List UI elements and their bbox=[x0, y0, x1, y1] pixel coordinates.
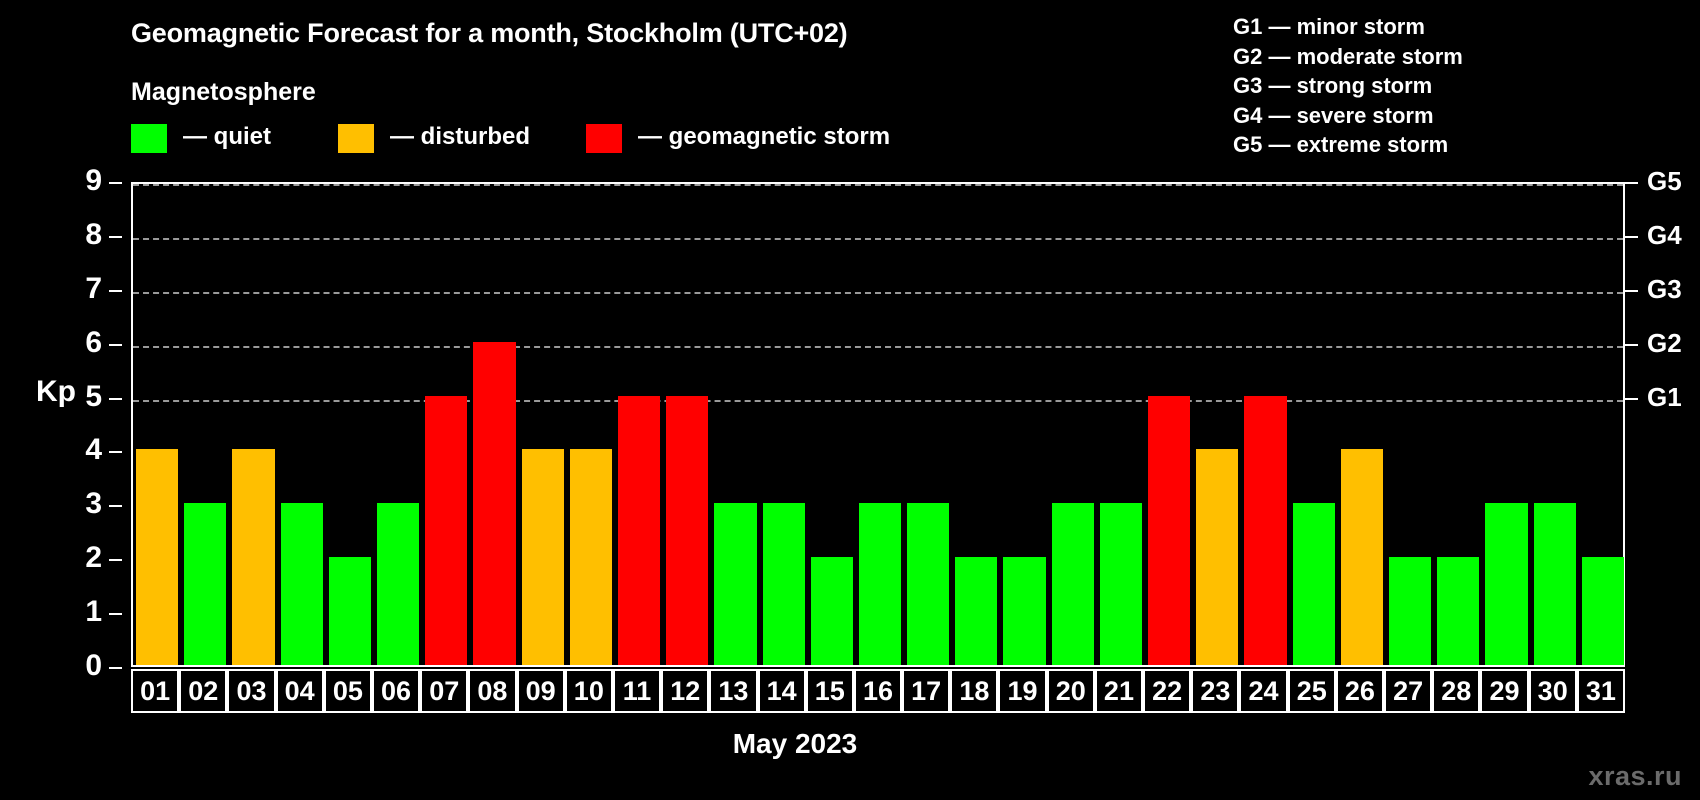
day-label-30[interactable]: 30 bbox=[1529, 669, 1577, 713]
g-tick-label-g4: G4 bbox=[1647, 222, 1682, 248]
y-axis-right-gscale: G1G2G3G4G5 bbox=[1625, 182, 1700, 667]
legend-entry-geomagnetic-storm: — geomagnetic storm bbox=[586, 122, 890, 154]
bar-day-19[interactable] bbox=[1003, 557, 1045, 665]
bar-day-15[interactable] bbox=[811, 557, 853, 665]
y-tick-label-9: 9 bbox=[58, 166, 102, 196]
y-tickmark-6 bbox=[109, 344, 122, 346]
day-label-28[interactable]: 28 bbox=[1432, 669, 1480, 713]
y-tickmark-7 bbox=[109, 290, 122, 292]
day-label-16[interactable]: 16 bbox=[854, 669, 902, 713]
day-label-18[interactable]: 18 bbox=[950, 669, 998, 713]
day-label-06[interactable]: 06 bbox=[372, 669, 420, 713]
y-tickmark-5 bbox=[109, 398, 122, 400]
gscale-row-g1: G1 — minor storm bbox=[1233, 12, 1463, 42]
day-label-24[interactable]: 24 bbox=[1239, 669, 1287, 713]
day-label-31[interactable]: 31 bbox=[1577, 669, 1625, 713]
day-label-27[interactable]: 27 bbox=[1384, 669, 1432, 713]
day-label-11[interactable]: 11 bbox=[613, 669, 661, 713]
day-label-22[interactable]: 22 bbox=[1143, 669, 1191, 713]
bar-day-16[interactable] bbox=[859, 503, 901, 665]
y-tickmark-8 bbox=[109, 236, 122, 238]
day-label-15[interactable]: 15 bbox=[806, 669, 854, 713]
legend-entry-quiet: — quiet bbox=[131, 122, 271, 154]
bar-day-26[interactable] bbox=[1341, 449, 1383, 665]
day-label-08[interactable]: 08 bbox=[468, 669, 516, 713]
y-tickmark-0 bbox=[109, 667, 122, 669]
gscale-row-g3: G3 — strong storm bbox=[1233, 71, 1463, 101]
g-tick-label-g5: G5 bbox=[1647, 168, 1682, 194]
bar-day-18[interactable] bbox=[955, 557, 997, 665]
bar-day-24[interactable] bbox=[1244, 396, 1286, 665]
y-tick-label-1: 1 bbox=[58, 597, 102, 627]
bar-day-20[interactable] bbox=[1052, 503, 1094, 665]
bar-day-03[interactable] bbox=[232, 449, 274, 665]
storm-swatch bbox=[586, 124, 622, 153]
gscale-row-g4: G4 — severe storm bbox=[1233, 101, 1463, 131]
g-tickmark-g2 bbox=[1625, 344, 1638, 346]
bar-day-10[interactable] bbox=[570, 449, 612, 665]
bar-day-06[interactable] bbox=[377, 503, 419, 665]
day-label-01[interactable]: 01 bbox=[131, 669, 179, 713]
day-label-02[interactable]: 02 bbox=[179, 669, 227, 713]
y-tickmark-3 bbox=[109, 505, 122, 507]
g-tickmark-g3 bbox=[1625, 290, 1638, 292]
y-tickmark-1 bbox=[109, 613, 122, 615]
y-axis-left: 0123456789 bbox=[60, 182, 122, 667]
legend-label: — quiet bbox=[183, 125, 271, 149]
plot-inner bbox=[133, 184, 1623, 665]
g-tickmark-g5 bbox=[1625, 182, 1638, 184]
bar-day-21[interactable] bbox=[1100, 503, 1142, 665]
bar-day-23[interactable] bbox=[1196, 449, 1238, 665]
watermark: xras.ru bbox=[1588, 761, 1682, 792]
day-label-07[interactable]: 07 bbox=[420, 669, 468, 713]
day-label-25[interactable]: 25 bbox=[1288, 669, 1336, 713]
y-axis-title: Kp bbox=[36, 375, 76, 409]
bars-layer bbox=[133, 184, 1623, 665]
y-tick-label-4: 4 bbox=[58, 435, 102, 465]
bar-day-07[interactable] bbox=[425, 396, 467, 665]
g-tick-label-g1: G1 bbox=[1647, 384, 1682, 410]
day-label-12[interactable]: 12 bbox=[661, 669, 709, 713]
day-label-04[interactable]: 04 bbox=[276, 669, 324, 713]
day-label-05[interactable]: 05 bbox=[324, 669, 372, 713]
disturbed-swatch bbox=[338, 124, 374, 153]
g-tick-label-g2: G2 bbox=[1647, 330, 1682, 356]
bar-day-08[interactable] bbox=[473, 342, 515, 665]
bar-day-02[interactable] bbox=[184, 503, 226, 665]
bar-day-04[interactable] bbox=[281, 503, 323, 665]
gscale-row-g2: G2 — moderate storm bbox=[1233, 42, 1463, 72]
day-label-21[interactable]: 21 bbox=[1095, 669, 1143, 713]
legend-label: — geomagnetic storm bbox=[638, 125, 890, 149]
legend-label: — disturbed bbox=[390, 125, 530, 149]
bar-day-27[interactable] bbox=[1389, 557, 1431, 665]
bar-day-17[interactable] bbox=[907, 503, 949, 665]
quiet-swatch bbox=[131, 124, 167, 153]
day-label-13[interactable]: 13 bbox=[709, 669, 757, 713]
bar-day-11[interactable] bbox=[618, 396, 660, 665]
y-tick-label-8: 8 bbox=[58, 220, 102, 250]
day-label-10[interactable]: 10 bbox=[565, 669, 613, 713]
y-tickmark-4 bbox=[109, 451, 122, 453]
day-label-17[interactable]: 17 bbox=[902, 669, 950, 713]
bar-day-13[interactable] bbox=[714, 503, 756, 665]
legend-heading: Magnetosphere bbox=[131, 78, 316, 107]
x-axis-day-labels: 0102030405060708091011121314151617181920… bbox=[131, 669, 1625, 713]
bar-day-12[interactable] bbox=[666, 396, 708, 665]
bar-day-09[interactable] bbox=[522, 449, 564, 665]
y-tick-label-2: 2 bbox=[58, 543, 102, 573]
day-label-14[interactable]: 14 bbox=[758, 669, 806, 713]
gscale-legend: G1 — minor stormG2 — moderate stormG3 — … bbox=[1233, 12, 1463, 160]
day-label-26[interactable]: 26 bbox=[1336, 669, 1384, 713]
y-tickmark-2 bbox=[109, 559, 122, 561]
y-tick-label-3: 3 bbox=[58, 489, 102, 519]
y-tick-label-7: 7 bbox=[58, 274, 102, 304]
bar-day-29[interactable] bbox=[1485, 503, 1527, 665]
y-tick-label-0: 0 bbox=[58, 651, 102, 681]
page-title: Geomagnetic Forecast for a month, Stockh… bbox=[131, 18, 847, 49]
bar-day-31[interactable] bbox=[1582, 557, 1624, 665]
legend-entry-disturbed: — disturbed bbox=[338, 122, 530, 154]
g-tick-label-g3: G3 bbox=[1647, 276, 1682, 302]
g-tickmark-g1 bbox=[1625, 398, 1638, 400]
plot-area bbox=[131, 182, 1625, 667]
day-label-29[interactable]: 29 bbox=[1480, 669, 1528, 713]
bar-day-30[interactable] bbox=[1534, 503, 1576, 665]
day-label-03[interactable]: 03 bbox=[227, 669, 275, 713]
day-label-19[interactable]: 19 bbox=[998, 669, 1046, 713]
y-tickmark-9 bbox=[109, 182, 122, 184]
geomagnetic-forecast-chart: Geomagnetic Forecast for a month, Stockh… bbox=[0, 0, 1700, 800]
bar-day-05[interactable] bbox=[329, 557, 371, 665]
bar-day-14[interactable] bbox=[763, 503, 805, 665]
g-tickmark-g4 bbox=[1625, 236, 1638, 238]
day-label-20[interactable]: 20 bbox=[1047, 669, 1095, 713]
x-axis-title: May 2023 bbox=[0, 728, 1700, 760]
bar-day-22[interactable] bbox=[1148, 396, 1190, 665]
bar-day-01[interactable] bbox=[136, 449, 178, 665]
y-tick-label-6: 6 bbox=[58, 328, 102, 358]
bar-day-25[interactable] bbox=[1293, 503, 1335, 665]
day-label-23[interactable]: 23 bbox=[1191, 669, 1239, 713]
bar-day-28[interactable] bbox=[1437, 557, 1479, 665]
day-label-09[interactable]: 09 bbox=[517, 669, 565, 713]
gscale-row-g5: G5 — extreme storm bbox=[1233, 130, 1463, 160]
